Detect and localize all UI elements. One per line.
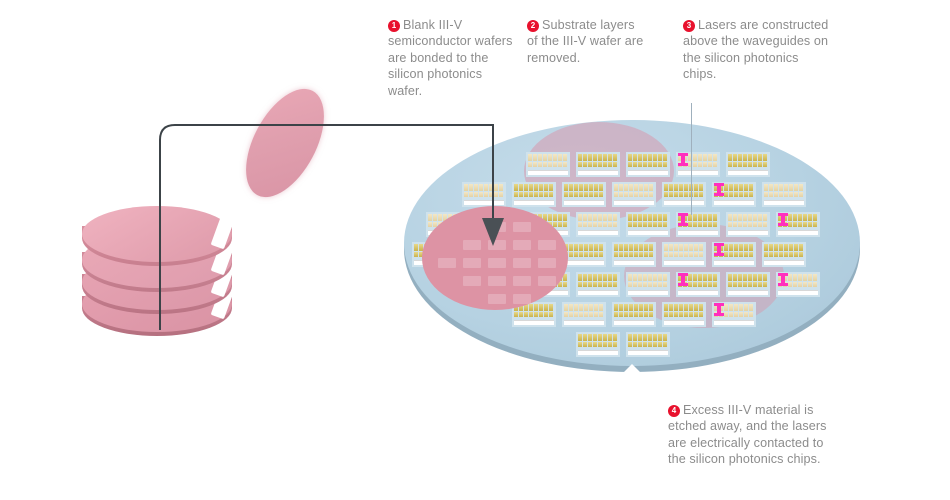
callout-2: 2Substrate layers of the III-V wafer are…: [527, 17, 645, 66]
callout-1: 1Blank III-V semiconductor wafers are bo…: [388, 17, 516, 99]
callout-text-3: Lasers are constructed above the wavegui…: [683, 18, 828, 81]
callout-text-4: Excess III-V material is etched away, an…: [668, 403, 827, 466]
callout-4: 4Excess III-V material is etched away, a…: [668, 402, 838, 468]
callout-3: 3Lasers are constructed above the wavegu…: [683, 17, 835, 83]
callout-badge-4: 4: [668, 405, 680, 417]
diagram-canvas: 1Blank III-V semiconductor wafers are bo…: [0, 0, 950, 500]
callout-text-2: Substrate layers of the III-V wafer are …: [527, 18, 643, 65]
callout-text-1: Blank III-V semiconductor wafers are bon…: [388, 18, 513, 98]
callout-3-leader-line: [691, 103, 692, 215]
callout-badge-3: 3: [683, 20, 695, 32]
callout-badge-2: 2: [527, 20, 539, 32]
callout-badge-1: 1: [388, 20, 400, 32]
